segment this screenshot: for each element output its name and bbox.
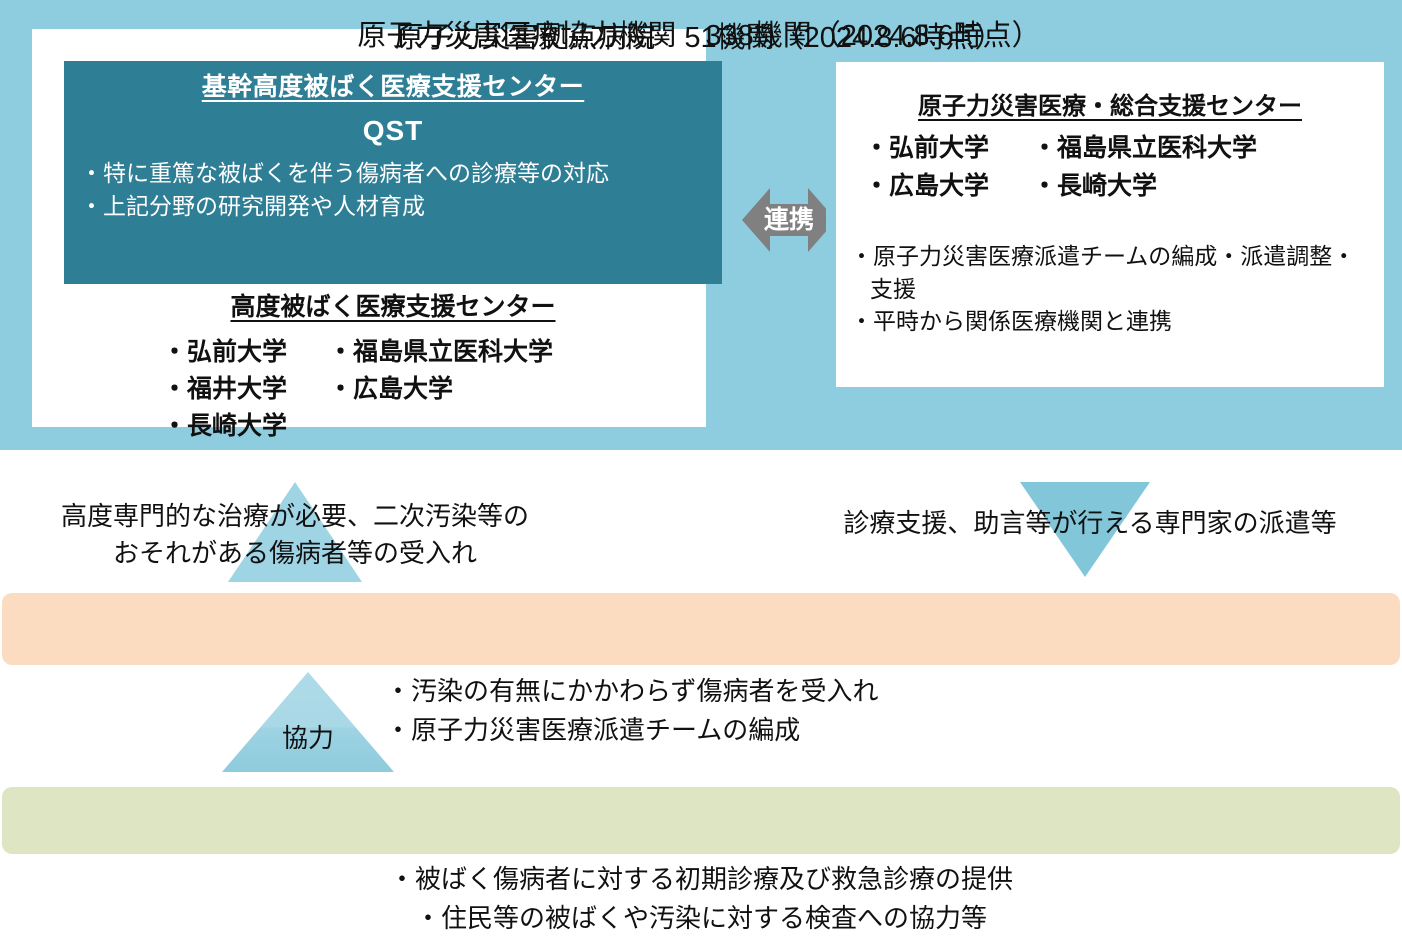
cooperation-arrow-label: 協力 bbox=[222, 718, 394, 755]
support-center-university-list: ・弘前大学・福島県立医科大学 ・福井大学・広島大学 ・長崎大学 bbox=[162, 334, 553, 445]
right-panel-bullet-item: ・平時から関係医療機関と連携 bbox=[850, 305, 1375, 338]
university-item: ・長崎大学 bbox=[1032, 168, 1157, 206]
hub-hospital-bullet-item: ・原子力災害医療派遣チームの編成 bbox=[385, 711, 878, 750]
university-row: ・弘前大学・福島県立医科大学 bbox=[162, 334, 553, 371]
right-panel-inner-surface: 原子力災害医療・総合支援センター ・弘前大学・福島県立医科大学 ・広島大学・長崎… bbox=[836, 62, 1384, 387]
university-item: ・長崎大学 bbox=[162, 408, 328, 445]
hub-hospital-bullet-list: ・汚染の有無にかかわらず傷病者を受入れ ・原子力災害医療派遣チームの編成 bbox=[385, 672, 878, 750]
cooperating-organization-bar-label: 原子力災害医療協力機関 338機関（2024.8.6時点） bbox=[0, 12, 1398, 54]
university-row: ・弘前大学・福島県立医科大学 bbox=[864, 130, 1257, 168]
left-panel-inner-surface: 基幹高度被ばく医療支援センター QST ・特に重篤な被ばくを伴う傷病者への診療等… bbox=[32, 29, 706, 427]
university-row: ・長崎大学 bbox=[162, 408, 553, 445]
university-row: ・福井大学・広島大学 bbox=[162, 371, 553, 408]
comprehensive-support-center-panel: 原子力災害医療・総合支援センター ・弘前大学・福島県立医科大学 ・広島大学・長崎… bbox=[826, 52, 1394, 397]
right-panel-title: 原子力災害医療・総合支援センター bbox=[836, 86, 1384, 121]
hub-hospital-bar bbox=[2, 593, 1400, 665]
left-flow-caption: 高度専門的な治療が必要、二次汚染等の おそれがある傷病者等の受入れ bbox=[10, 498, 580, 572]
cooperating-organization-bullet-item: ・住民等の被ばくや汚染に対する検査への協力等 bbox=[0, 899, 1402, 938]
qst-box-title: 基幹高度被ばく医療支援センター bbox=[70, 71, 716, 105]
university-item: ・福島県立医科大学 bbox=[328, 334, 553, 371]
connector-label: 連携 bbox=[740, 200, 838, 236]
university-row: ・広島大学・長崎大学 bbox=[864, 168, 1257, 206]
right-panel-bullet-list: ・原子力災害医療派遣チームの編成・派遣調整・支援 ・平時から関係医療機関と連携 bbox=[850, 240, 1375, 338]
qst-bullet-item: ・上記分野の研究開発や人材育成 bbox=[80, 190, 716, 223]
qst-bullet-item: ・特に重篤な被ばくを伴う傷病者への診療等の対応 bbox=[80, 157, 716, 190]
cooperating-organization-bullet-list: ・被ばく傷病者に対する初期診療及び救急診療の提供 ・住民等の被ばくや汚染に対する… bbox=[0, 860, 1402, 938]
hub-hospital-bullet-item: ・汚染の有無にかかわらず傷病者を受入れ bbox=[385, 672, 878, 711]
qst-core-center-box: 基幹高度被ばく医療支援センター QST ・特に重篤な被ばくを伴う傷病者への診療等… bbox=[64, 61, 722, 284]
right-flow-caption: 診療支援、助言等が行える専門家の派遣等 bbox=[790, 503, 1390, 540]
cooperating-organization-bullet-item: ・被ばく傷病者に対する初期診療及び救急診療の提供 bbox=[0, 860, 1402, 899]
university-item: ・広島大学 bbox=[864, 168, 1032, 206]
university-item: ・弘前大学 bbox=[864, 130, 1032, 168]
advanced-radiation-support-panel: 基幹高度被ばく医療支援センター QST ・特に重篤な被ばくを伴う傷病者への診療等… bbox=[8, 9, 730, 439]
university-item: ・福島県立医科大学 bbox=[1032, 130, 1257, 168]
university-item: ・弘前大学 bbox=[162, 334, 328, 371]
left-flow-caption-line: おそれがある傷病者等の受入れ bbox=[10, 535, 580, 572]
right-panel-bullet-item: ・原子力災害医療派遣チームの編成・派遣調整・支援 bbox=[850, 240, 1375, 305]
university-item: ・福井大学 bbox=[162, 371, 328, 408]
left-flow-caption-line: 高度専門的な治療が必要、二次汚染等の bbox=[10, 498, 580, 535]
right-panel-university-list: ・弘前大学・福島県立医科大学 ・広島大学・長崎大学 bbox=[864, 130, 1257, 205]
cooperating-organization-bar bbox=[2, 787, 1400, 854]
support-center-title: 高度被ばく医療支援センター bbox=[32, 287, 754, 323]
university-item: ・広島大学 bbox=[328, 371, 453, 408]
qst-acronym: QST bbox=[70, 115, 716, 147]
qst-bullet-list: ・特に重篤な被ばくを伴う傷病者への診療等の対応 ・上記分野の研究開発や人材育成 bbox=[70, 157, 716, 224]
